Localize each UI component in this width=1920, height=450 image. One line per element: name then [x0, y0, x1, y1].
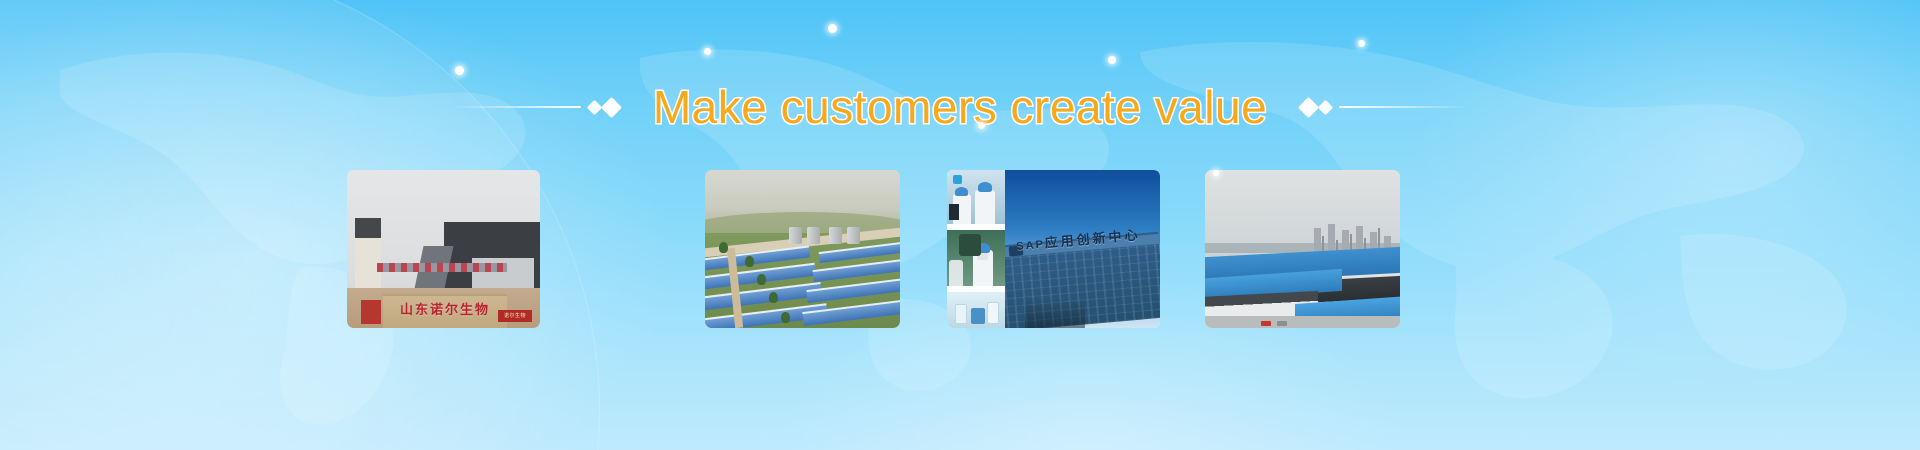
rule-right [1339, 106, 1469, 108]
headline-row: Make customers create value [0, 76, 1920, 138]
diamond-large-left-icon [601, 96, 622, 117]
page-title: Make customers create value [627, 84, 1293, 130]
photo-card-sap-center[interactable]: SAP应用创新中心 [947, 170, 1160, 328]
lab-thumb-product [947, 292, 1005, 328]
factory-wall-caption: 山东诺尔生物 [383, 303, 507, 316]
diamonds-right [1301, 100, 1331, 115]
sparkle-dot [1213, 170, 1219, 176]
photo-card-factory[interactable]: 山东诺尔生物 诺尔生物 [347, 170, 540, 328]
lab-thumb-microscope [947, 170, 1005, 224]
hero-banner: Make customers create value 山东诺尔生物 诺尔生物 [0, 0, 1920, 450]
sparkle-dot [1358, 40, 1365, 47]
sparkle-dot [1108, 56, 1116, 64]
factory-plaque-text: 诺尔生物 [498, 310, 532, 322]
rule-left [451, 106, 581, 108]
photo-card-chemical-plant[interactable] [1205, 170, 1400, 328]
lab-thumb-equipment [947, 230, 1005, 286]
sap-building: SAP应用创新中心 [1005, 170, 1160, 328]
sparkle-dot [978, 122, 985, 129]
aerial-park-scene [705, 170, 900, 328]
diamond-large-right-icon [1298, 96, 1319, 117]
photo-strip: 山东诺尔生物 诺尔生物 [347, 170, 1400, 328]
factory-scene: 山东诺尔生物 诺尔生物 [347, 170, 540, 328]
diamonds-left [589, 100, 619, 115]
chemical-plant-scene [1205, 170, 1400, 328]
diamond-small-left-icon [587, 99, 603, 115]
sparkle-dot [828, 24, 837, 33]
diamond-small-right-icon [1318, 99, 1334, 115]
sparkle-dot [455, 66, 464, 75]
sap-center-scene: SAP应用创新中心 [947, 170, 1160, 328]
sparkle-dot [704, 48, 711, 55]
photo-card-aerial-park[interactable] [705, 170, 900, 328]
